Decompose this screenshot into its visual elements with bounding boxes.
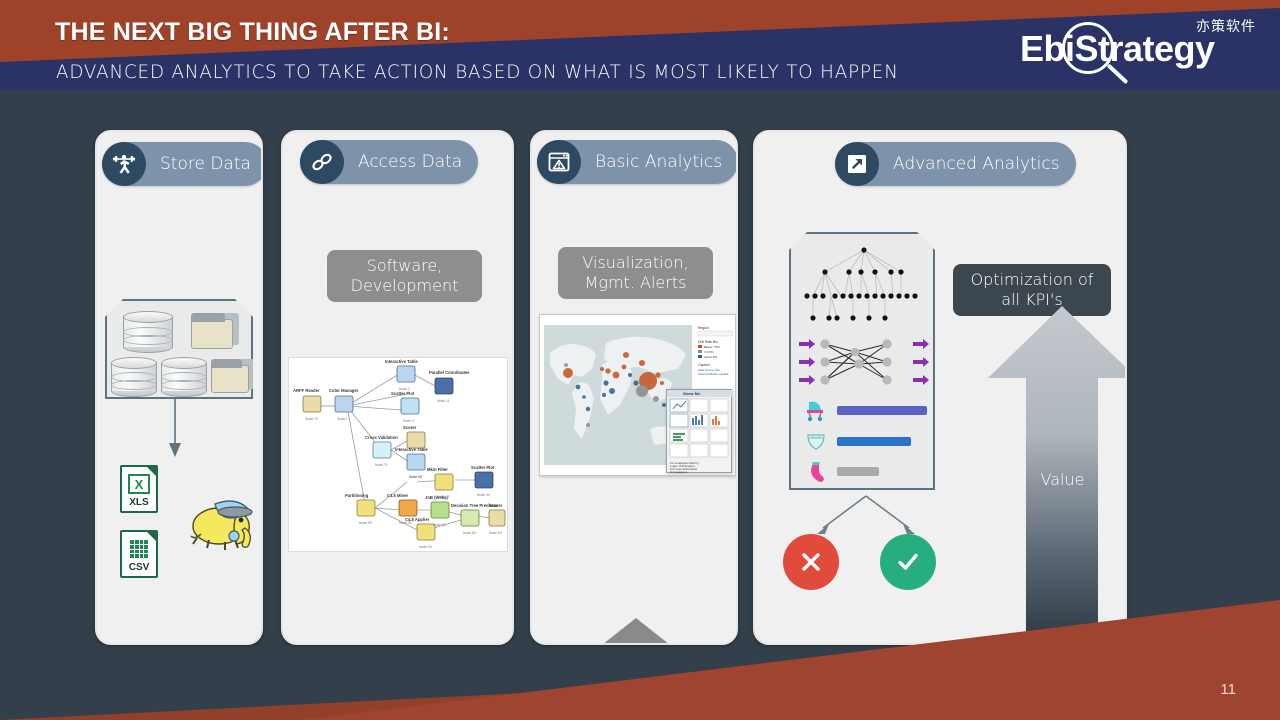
knime-workflow-diagram: ARFF Reader Color Manager Interactive Ta… [288, 357, 508, 552]
panel-header-advanced-analytics[interactable]: Advanced Analytics [835, 142, 1076, 186]
analytics-model-container [789, 232, 935, 490]
svg-text:www.worldbank.org/data: www.worldbank.org/data [698, 372, 729, 376]
svg-text:Interactive Table: Interactive Table [395, 447, 428, 452]
svg-text:About 9%: About 9% [704, 355, 717, 359]
panel-title-store-data: Store Data [146, 154, 263, 174]
show-me-panel[interactable]: Show Me [666, 389, 732, 473]
weightlifter-icon [102, 142, 146, 186]
csv-glyph [128, 539, 150, 559]
svg-text:Node 63: Node 63 [489, 531, 502, 535]
svg-text:ARFF Reader: ARFF Reader [293, 388, 320, 393]
product-row-sock [805, 460, 879, 482]
svg-text:Caption: Caption [698, 363, 710, 367]
value-arrow-advanced-analytics: Value [985, 302, 1127, 645]
svg-text:Show Me: Show Me [683, 391, 701, 396]
logo-wordmark: EbiStrategy [1020, 28, 1215, 70]
accept-circle[interactable] [880, 534, 936, 590]
chain-link-icon [300, 140, 344, 184]
svg-text:Node 2: Node 2 [399, 387, 410, 391]
svg-text:Node 31: Node 31 [437, 495, 450, 499]
tag-line-1: Optimization of [971, 270, 1094, 289]
diaper-icon [805, 430, 827, 452]
svg-text:Region: Region [698, 326, 709, 330]
xls-file-icon: X XLS [120, 465, 158, 513]
data-folder-icon [211, 359, 255, 393]
database-cylinder [111, 357, 157, 397]
slide-canvas: THE NEXT BIG THING AFTER BI: ADVANCED AN… [0, 0, 1280, 720]
page-subtitle: ADVANCED ANALYTICS TO TAKE ACTION BASED … [56, 61, 899, 83]
svg-text:Scorer: Scorer [489, 503, 503, 508]
xls-label: XLS [122, 497, 156, 508]
svg-text:Interactive Table: Interactive Table [385, 359, 418, 364]
tag-software-development: Software, Development [327, 250, 482, 302]
reject-circle[interactable] [783, 534, 839, 590]
x-mark-icon [797, 548, 825, 576]
data-folder-icon [191, 313, 239, 349]
data-store-container [105, 299, 253, 399]
world-map-dashboard: Region Drill Rate Bin Below 7.5% 7-9.5% … [539, 314, 736, 476]
csv-label: CSV [122, 562, 156, 573]
window-alert-icon [537, 140, 581, 184]
svg-text:Partitioning: Partitioning [345, 493, 369, 498]
svg-text:Cross Validation: Cross Validation [365, 435, 398, 440]
svg-text:Node 51: Node 51 [399, 521, 412, 525]
tag-line-2: Development [351, 276, 459, 295]
stroller-icon [805, 398, 827, 422]
hadoop-elephant-icon [177, 490, 257, 552]
brand-logo: EbiStrategy 亦策软件 [1020, 14, 1258, 76]
product-recommendation-bars [805, 398, 925, 478]
product-row-stroller [805, 398, 927, 422]
flow-down-arrow-icon [167, 399, 183, 459]
csv-file-icon: CSV [120, 530, 158, 578]
panel-header-access-data[interactable]: Access Data [300, 140, 478, 184]
svg-text:Color Manager: Color Manager [329, 388, 359, 393]
tag-line-1: Visualization, [582, 253, 688, 272]
svg-text:C4.5 Miner: C4.5 Miner [387, 493, 409, 498]
svg-text:0-2 measures: 0-2 measures [670, 470, 688, 474]
svg-text:Scatter Plot: Scatter Plot [471, 465, 495, 470]
svg-text:Node 60: Node 60 [433, 523, 446, 527]
panel-store-data[interactable]: X XLS CSV [95, 130, 263, 645]
panel-title-advanced-analytics: Advanced Analytics [879, 154, 1076, 174]
svg-text:Drill Rate Bin: Drill Rate Bin [698, 340, 718, 344]
map-legend-panel: Region Drill Rate Bin Below 7.5% 7-9.5% … [696, 323, 734, 385]
svg-text:7-9.5%: 7-9.5% [704, 350, 714, 354]
decision-tree-diagram [797, 242, 931, 334]
page-number: 11 [1220, 681, 1236, 698]
database-cylinder [161, 357, 207, 397]
panel-title-access-data: Access Data [344, 152, 478, 172]
sock-icon [805, 460, 827, 482]
product-row-diaper [805, 430, 911, 452]
database-cylinder [123, 311, 173, 353]
svg-text:Node 11: Node 11 [437, 399, 450, 403]
value-label: Value [985, 470, 1127, 489]
panel-access-data[interactable]: Software, Development [281, 130, 514, 645]
trend-up-arrow-icon [835, 142, 879, 186]
value-arrow-basic-analytics: Value [547, 614, 725, 645]
tag-line-1: Software, [367, 256, 443, 275]
panel-basic-analytics[interactable]: Visualization, Mgmt. Alerts [530, 130, 738, 645]
check-mark-icon [893, 547, 923, 577]
tag-visualization-alerts: Visualization, Mgmt. Alerts [558, 247, 713, 299]
recommendation-bar [837, 467, 879, 476]
panel-header-store-data[interactable]: Store Data [102, 142, 263, 186]
svg-text:Node 53: Node 53 [419, 545, 432, 549]
svg-text:Parallel Coordinates: Parallel Coordinates [429, 370, 470, 375]
svg-text:Scorer: Scorer [403, 425, 417, 430]
panel-title-basic-analytics: Basic Analytics [581, 152, 738, 172]
svg-text:Node 71: Node 71 [375, 463, 388, 467]
svg-text:Node 32: Node 32 [477, 493, 490, 497]
panel-header-basic-analytics[interactable]: Basic Analytics [537, 140, 738, 184]
svg-text:Node 50: Node 50 [359, 521, 372, 525]
svg-text:Node 1: Node 1 [337, 417, 348, 421]
page-title: THE NEXT BIG THING AFTER BI: [55, 18, 450, 47]
recommendation-bar [837, 406, 927, 415]
svg-text:Node 70: Node 70 [305, 417, 318, 421]
svg-text:Below 7.5%: Below 7.5% [704, 345, 720, 349]
svg-text:Node 62: Node 62 [463, 531, 476, 535]
svg-text:Scatter Plot: Scatter Plot [391, 391, 415, 396]
svg-text:Node 3: Node 3 [403, 419, 414, 423]
panel-advanced-analytics[interactable]: Optimization of all KPI's [753, 130, 1127, 645]
recommendation-bar [837, 437, 911, 446]
tag-line-2: Mgmt. Alerts [585, 273, 687, 292]
logo-chinese-text: 亦策软件 [1196, 16, 1256, 36]
svg-text:Node 33: Node 33 [409, 475, 422, 479]
svg-text:Mkin Filter: Mkin Filter [427, 467, 448, 472]
neural-network-diagram [797, 334, 931, 390]
xls-glyph: X [128, 474, 150, 494]
